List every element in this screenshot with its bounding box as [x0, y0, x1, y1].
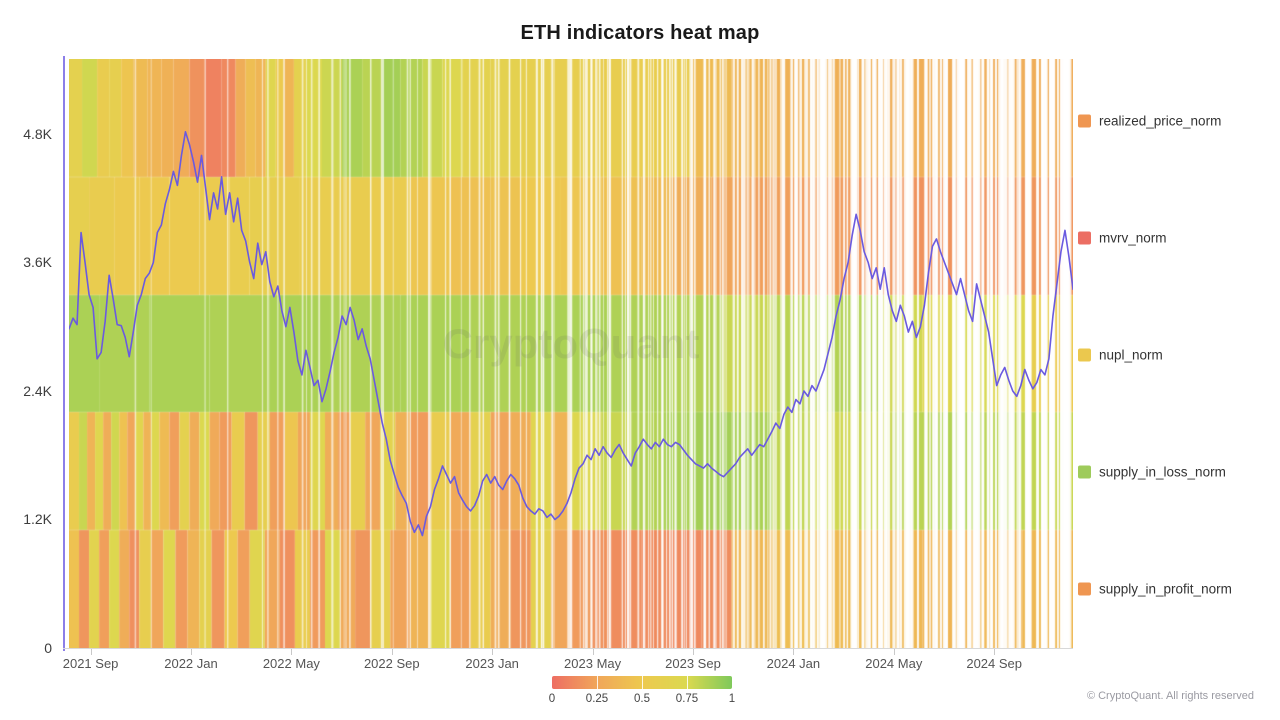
legend-swatch-icon: [1078, 349, 1091, 362]
legend-item-realized-price-norm[interactable]: realized_price_norm: [1078, 114, 1221, 129]
y-tick-label: 1.2K: [0, 511, 52, 527]
colorbar-tick-label: 0.25: [586, 693, 608, 705]
legend-label: nupl_norm: [1099, 348, 1163, 363]
legend[interactable]: realized_price_normmvrv_normnupl_normsup…: [1078, 59, 1278, 648]
x-tick-label: 2023 May: [564, 656, 621, 671]
heatmap-chart: ETH indicators heat map CryptoQuant 01.2…: [0, 0, 1280, 720]
colorbar[interactable]: 00.250.50.751: [552, 676, 732, 712]
x-tick-mark: [693, 649, 694, 655]
y-tick-label: 4.8K: [0, 126, 52, 142]
copyright-notice: © CryptoQuant. All rights reserved: [1087, 690, 1254, 702]
x-tick-label: 2021 Sep: [63, 656, 119, 671]
legend-swatch-icon: [1078, 232, 1091, 245]
x-tick-label: 2024 Jan: [767, 656, 821, 671]
price-line-overlay: [69, 59, 1073, 648]
x-tick-mark: [492, 649, 493, 655]
plot-area[interactable]: [69, 59, 1073, 648]
x-axis-line: [63, 648, 1073, 649]
x-tick-mark: [894, 649, 895, 655]
legend-item-nupl-norm[interactable]: nupl_norm: [1078, 348, 1163, 363]
colorbar-tick-label: 1: [729, 693, 735, 705]
colorbar-separator: [642, 676, 643, 689]
x-tick-label: 2023 Jan: [465, 656, 519, 671]
x-tick-mark: [291, 649, 292, 655]
x-tick-label: 2024 Sep: [966, 656, 1022, 671]
x-tick-label: 2022 Sep: [364, 656, 420, 671]
colorbar-tick-label: 0: [549, 693, 555, 705]
x-tick-label: 2024 May: [865, 656, 922, 671]
legend-swatch-icon: [1078, 583, 1091, 596]
y-tick-label: 0: [0, 640, 52, 656]
x-tick-mark: [191, 649, 192, 655]
x-tick-label: 2022 Jan: [164, 656, 218, 671]
x-tick-mark: [593, 649, 594, 655]
price-line: [69, 132, 1073, 536]
legend-item-supply-in-profit-norm[interactable]: supply_in_profit_norm: [1078, 582, 1232, 597]
legend-label: realized_price_norm: [1099, 114, 1221, 129]
x-tick-label: 2022 May: [263, 656, 320, 671]
y-tick-label: 3.6K: [0, 254, 52, 270]
legend-label: supply_in_profit_norm: [1099, 582, 1232, 597]
y-tick-label: 2.4K: [0, 383, 52, 399]
legend-item-mvrv-norm[interactable]: mvrv_norm: [1078, 231, 1167, 246]
x-tick-mark: [392, 649, 393, 655]
y-axis-line: [63, 56, 65, 651]
colorbar-separator: [687, 676, 688, 689]
legend-swatch-icon: [1078, 466, 1091, 479]
x-tick-mark: [91, 649, 92, 655]
page-title: ETH indicators heat map: [0, 22, 1280, 45]
legend-swatch-icon: [1078, 115, 1091, 128]
x-tick-label: 2023 Sep: [665, 656, 721, 671]
legend-label: mvrv_norm: [1099, 231, 1167, 246]
legend-label: supply_in_loss_norm: [1099, 465, 1226, 480]
legend-item-supply-in-loss-norm[interactable]: supply_in_loss_norm: [1078, 465, 1226, 480]
x-tick-mark: [793, 649, 794, 655]
x-tick-mark: [994, 649, 995, 655]
colorbar-tick-label: 0.75: [676, 693, 698, 705]
colorbar-tick-label: 0.5: [634, 693, 650, 705]
colorbar-separator: [597, 676, 598, 689]
